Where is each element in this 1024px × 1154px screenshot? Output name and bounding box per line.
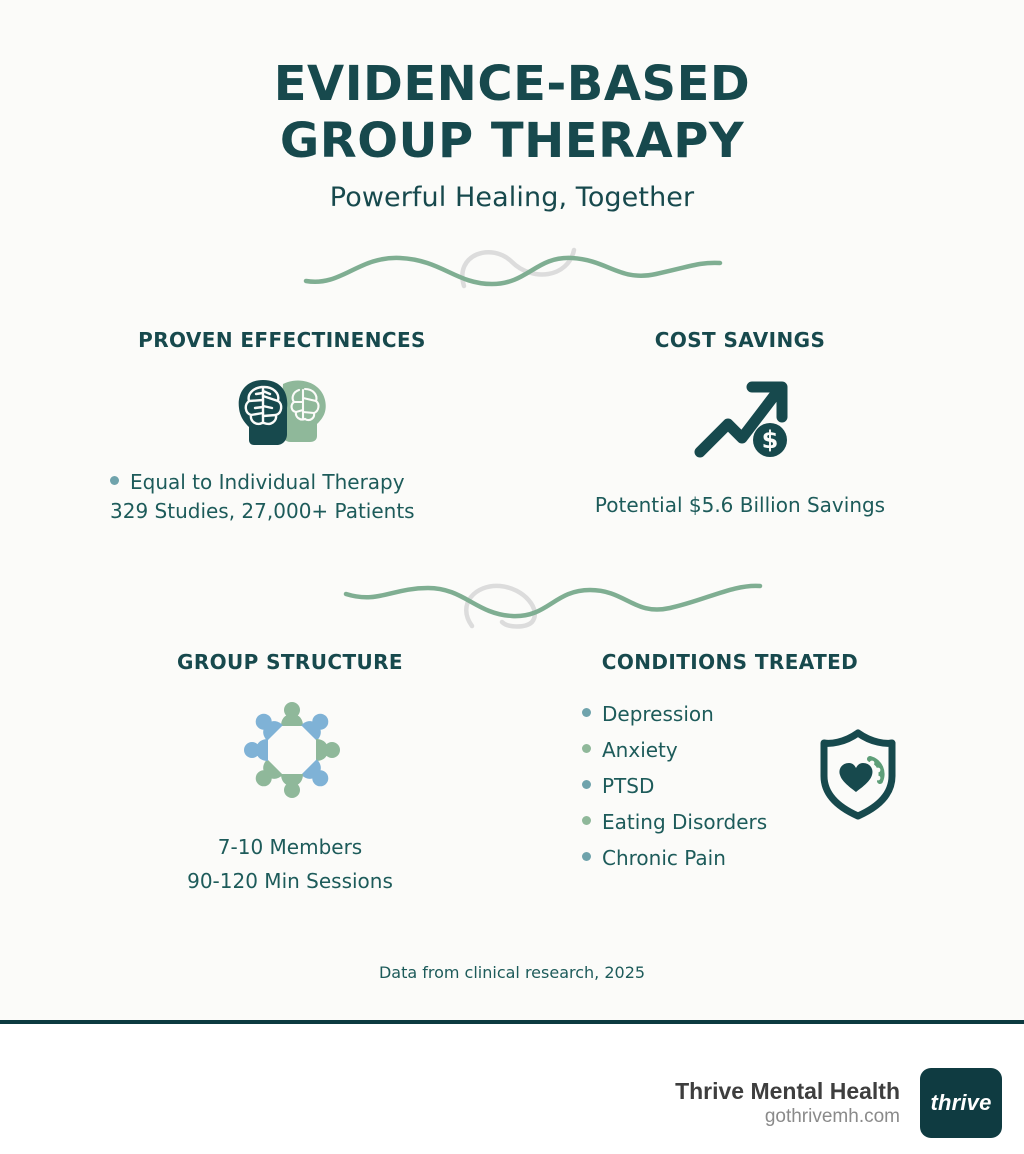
- list-item: Chronic Pain: [582, 846, 767, 870]
- growth-arrow-dollar-glyph: $: [694, 378, 798, 462]
- thrive-logo: thrive: [920, 1068, 1002, 1138]
- logo-wordmark: thrive: [930, 1090, 991, 1116]
- section-heading-cost: COST SAVINGS: [540, 328, 940, 352]
- condition-label: Depression: [602, 702, 714, 726]
- section-group-structure: GROUP STRUCTURE: [90, 650, 490, 898]
- brand-url[interactable]: gothrivemh.com: [675, 1105, 900, 1129]
- section-heading-conditions: CONDITIONS TREATED: [540, 650, 920, 674]
- page-subtitle: Powerful Healing, Together: [0, 182, 1024, 213]
- people-circle-icon: [90, 700, 490, 800]
- bullet-dot: [582, 780, 591, 789]
- growth-arrow-dollar-icon: $: [540, 378, 940, 462]
- section-conditions-treated: CONDITIONS TREATED Depression Anxiety PT…: [540, 650, 960, 902]
- list-item: Depression: [582, 702, 767, 726]
- two-heads-brain-icon: [52, 374, 512, 446]
- two-heads-brain-glyph: [237, 374, 333, 446]
- cost-savings-label: Potential $5.6 Billion Savings: [540, 488, 940, 522]
- wave-divider-icon: [296, 240, 728, 296]
- wave-divider-icon: [336, 560, 768, 630]
- condition-label: Eating Disorders: [602, 810, 767, 834]
- page-title: EVIDENCE-BASED GROUP THERAPY Powerful He…: [0, 56, 1024, 213]
- infographic-poster: EVIDENCE-BASED GROUP THERAPY Powerful He…: [0, 0, 1024, 1154]
- proven-bullet-label: Equal to Individual Therapy: [130, 470, 405, 494]
- source-note: Data from clinical research, 2025: [0, 963, 1024, 982]
- list-item: PTSD: [582, 774, 767, 798]
- cost-text-block: Potential $5.6 Billion Savings: [540, 488, 940, 522]
- proven-detail-label: 329 Studies, 27,000+ Patients: [110, 494, 512, 528]
- brand-name: Thrive Mental Health: [675, 1078, 900, 1105]
- svg-text:$: $: [762, 426, 779, 454]
- list-item: Anxiety: [582, 738, 767, 762]
- group-members-label: 7-10 Members: [90, 830, 490, 864]
- section-cost-savings: COST SAVINGS $ Potential $5.6 Billion Sa…: [540, 328, 940, 522]
- condition-label: Chronic Pain: [602, 846, 726, 870]
- bullet-dot: [582, 744, 591, 753]
- bullet-dot: [582, 816, 591, 825]
- condition-label: PTSD: [602, 774, 654, 798]
- section-proven-effectiveness: PROVEN EFFECTINENCES: [52, 328, 512, 528]
- people-circle-glyph: [242, 700, 342, 800]
- wave-divider-top: [296, 240, 728, 301]
- group-sessions-label: 90-120 Min Sessions: [90, 864, 490, 898]
- list-item: Eating Disorders: [582, 810, 767, 834]
- shield-heart-glyph: [818, 728, 898, 820]
- proven-text-block: Equal to Individual Therapy 329 Studies,…: [52, 470, 512, 528]
- group-text-block: 7-10 Members 90-120 Min Sessions: [90, 830, 490, 898]
- section-heading-proven: PROVEN EFFECTINENCES: [52, 328, 512, 352]
- proven-bullet-row: Equal to Individual Therapy: [110, 470, 512, 494]
- shield-heart-icon: [818, 728, 898, 825]
- bullet-dot: [582, 852, 591, 861]
- bullet-dot: [110, 476, 119, 485]
- wave-divider-middle: [336, 560, 768, 635]
- conditions-list: Depression Anxiety PTSD Eating Disorders…: [582, 702, 767, 870]
- section-heading-group: GROUP STRUCTURE: [90, 650, 490, 674]
- bullet-dot: [582, 708, 591, 717]
- title-line-2: GROUP THERAPY: [0, 113, 1024, 170]
- condition-label: Anxiety: [602, 738, 678, 762]
- footer: Thrive Mental Health gothrivemh.com thri…: [0, 1024, 1024, 1154]
- title-line-1: EVIDENCE-BASED: [0, 56, 1024, 113]
